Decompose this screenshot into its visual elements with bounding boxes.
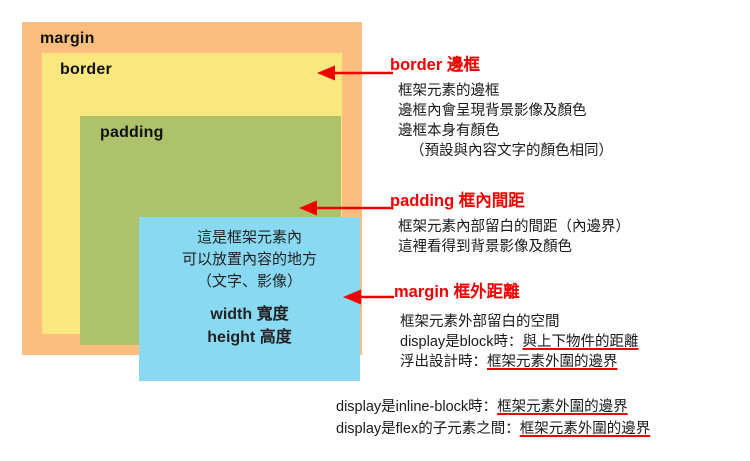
callout-margin: margin 框外距離 框架元素外部留白的空間 display是block時：與… [394, 283, 639, 372]
callout-margin-rule-emphasis: 框架元素外圍的邊界 [487, 354, 618, 370]
padding-arrow [297, 197, 395, 219]
margin-layer: margin border padding 這是框架元素內 可以放置內容的地方 … [22, 22, 362, 355]
callout-margin-rule-emphasis: 與上下物件的距離 [523, 334, 639, 350]
callout-border-body: 框架元素的邊框 邊框內會呈現背景影像及顏色 邊框本身有顏色 （預設與內容文字的顏… [398, 81, 613, 161]
callout-border-title: border 邊框 [390, 56, 613, 74]
margin-arrow [341, 286, 396, 308]
footer-note: display是inline-block時：框架元素外圍的邊界 [336, 396, 650, 418]
callout-margin-rule-prefix: 浮出設計時： [400, 354, 487, 370]
footer-note: display是flex的子元素之間：框架元素外圍的邊界 [336, 418, 650, 440]
callout-margin-title: margin 框外距離 [394, 283, 639, 301]
content-text-line: 可以放置內容的地方 [182, 249, 317, 271]
content-text-line: 這是框架元素內 [197, 227, 302, 249]
callout-border-line: 框架元素的邊框 [398, 81, 613, 101]
callout-padding-line: 框架元素內部留白的間距（內邊界） [398, 217, 630, 237]
border-layer: border padding 這是框架元素內 可以放置內容的地方 （文字、影像）… [42, 53, 342, 334]
callout-padding-title: padding 框內間距 [390, 192, 630, 210]
callout-margin-rule: display是block時：與上下物件的距離 [400, 332, 639, 352]
padding-layer: padding 這是框架元素內 可以放置內容的地方 （文字、影像） width … [80, 116, 341, 345]
content-width-label: width 寬度 [210, 303, 288, 326]
callout-padding: padding 框內間距 框架元素內部留白的間距（內邊界） 這裡看得到背景影像及… [390, 192, 630, 257]
padding-layer-label: padding [100, 125, 164, 141]
callout-border-line: 邊框本身有顏色 [398, 121, 613, 141]
callout-padding-line: 這裡看得到背景影像及顏色 [398, 237, 630, 257]
content-text-line: （文字、影像） [197, 271, 302, 293]
footer-note-emphasis: 框架元素外圍的邊界 [520, 421, 651, 437]
callout-margin-rule-prefix: display是block時： [400, 334, 523, 350]
footer-note-emphasis: 框架元素外圍的邊界 [497, 399, 628, 415]
box-model-diagram: margin border padding 這是框架元素內 可以放置內容的地方 … [22, 22, 362, 355]
callout-margin-rule: 浮出設計時：框架元素外圍的邊界 [400, 352, 639, 372]
callout-margin-body: 框架元素外部留白的空間 display是block時：與上下物件的距離 浮出設計… [400, 312, 639, 372]
content-height-label: height 高度 [207, 326, 291, 349]
callout-margin-line: 框架元素外部留白的空間 [400, 312, 639, 332]
margin-layer-label: margin [40, 31, 95, 47]
callout-border-line: （預設與內容文字的顏色相同） [398, 141, 613, 161]
callout-border-line: 邊框內會呈現背景影像及顏色 [398, 101, 613, 121]
border-arrow [315, 62, 395, 84]
content-layer: 這是框架元素內 可以放置內容的地方 （文字、影像） width 寬度 heigh… [139, 217, 360, 381]
border-layer-label: border [60, 62, 112, 78]
callout-padding-body: 框架元素內部留白的間距（內邊界） 這裡看得到背景影像及顏色 [398, 217, 630, 257]
footer-notes: display是inline-block時：框架元素外圍的邊界 display是… [336, 396, 650, 440]
footer-note-prefix: display是inline-block時： [336, 399, 497, 415]
callout-border: border 邊框 框架元素的邊框 邊框內會呈現背景影像及顏色 邊框本身有顏色 … [390, 56, 613, 161]
footer-note-prefix: display是flex的子元素之間： [336, 421, 520, 437]
